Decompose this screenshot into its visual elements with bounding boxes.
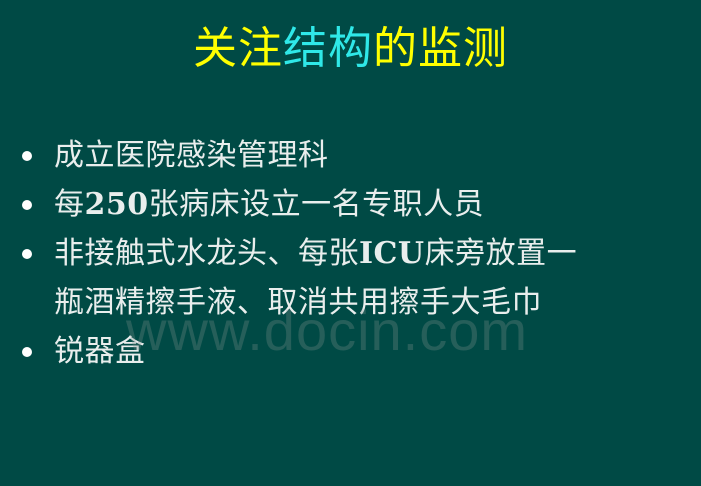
bullet-text: 瓶酒精擦手液、取消共用擦手大毛巾 — [54, 285, 542, 320]
presentation-slide: 关注结构的监测 www.docin.com 成立医院感染管理科每250张病床设立… — [0, 0, 701, 486]
bullet-line: 锐器盒 — [54, 334, 146, 369]
bullet-item: 锐器盒 — [12, 327, 692, 376]
title-segment-0: 关注 — [193, 23, 283, 74]
bullet-text: 张病床设立一名专职人员 — [149, 187, 485, 222]
round-bullet-icon — [22, 200, 32, 210]
bullet-text: 成立医院感染管理科 — [54, 138, 329, 173]
round-bullet-icon — [22, 347, 32, 357]
title-segment-1: 结构 — [283, 23, 373, 74]
bullet-line: 瓶酒精擦手液、取消共用擦手大毛巾 — [54, 278, 692, 327]
slide-bullet-list: 成立医院感染管理科每250张病床设立一名专职人员非接触式水龙头、每张ICU床旁放… — [12, 131, 692, 376]
bullet-line: 非接触式水龙头、每张ICU床旁放置一 — [54, 236, 577, 271]
bullet-text: 非接触式水龙头、每张 — [54, 236, 359, 271]
bullet-line: 每250张病床设立一名专职人员 — [54, 187, 484, 222]
bullet-item: 每250张病床设立一名专职人员 — [12, 180, 692, 229]
bullet-text: 每 — [54, 187, 85, 222]
title-segment-2: 的监测 — [373, 23, 508, 74]
bullet-item: 非接触式水龙头、每张ICU床旁放置一瓶酒精擦手液、取消共用擦手大毛巾 — [12, 229, 692, 327]
round-bullet-icon — [22, 151, 32, 161]
round-bullet-icon — [22, 249, 32, 259]
bullet-item: 成立医院感染管理科 — [12, 131, 692, 180]
bullet-line: 成立医院感染管理科 — [54, 138, 329, 173]
bullet-text-bold: 250 — [85, 187, 149, 222]
bullet-text: 床旁放置一 — [425, 236, 578, 271]
bullet-text: 锐器盒 — [54, 334, 146, 369]
slide-title: 关注结构的监测 — [0, 24, 701, 75]
bullet-text-bold: ICU — [359, 236, 425, 271]
